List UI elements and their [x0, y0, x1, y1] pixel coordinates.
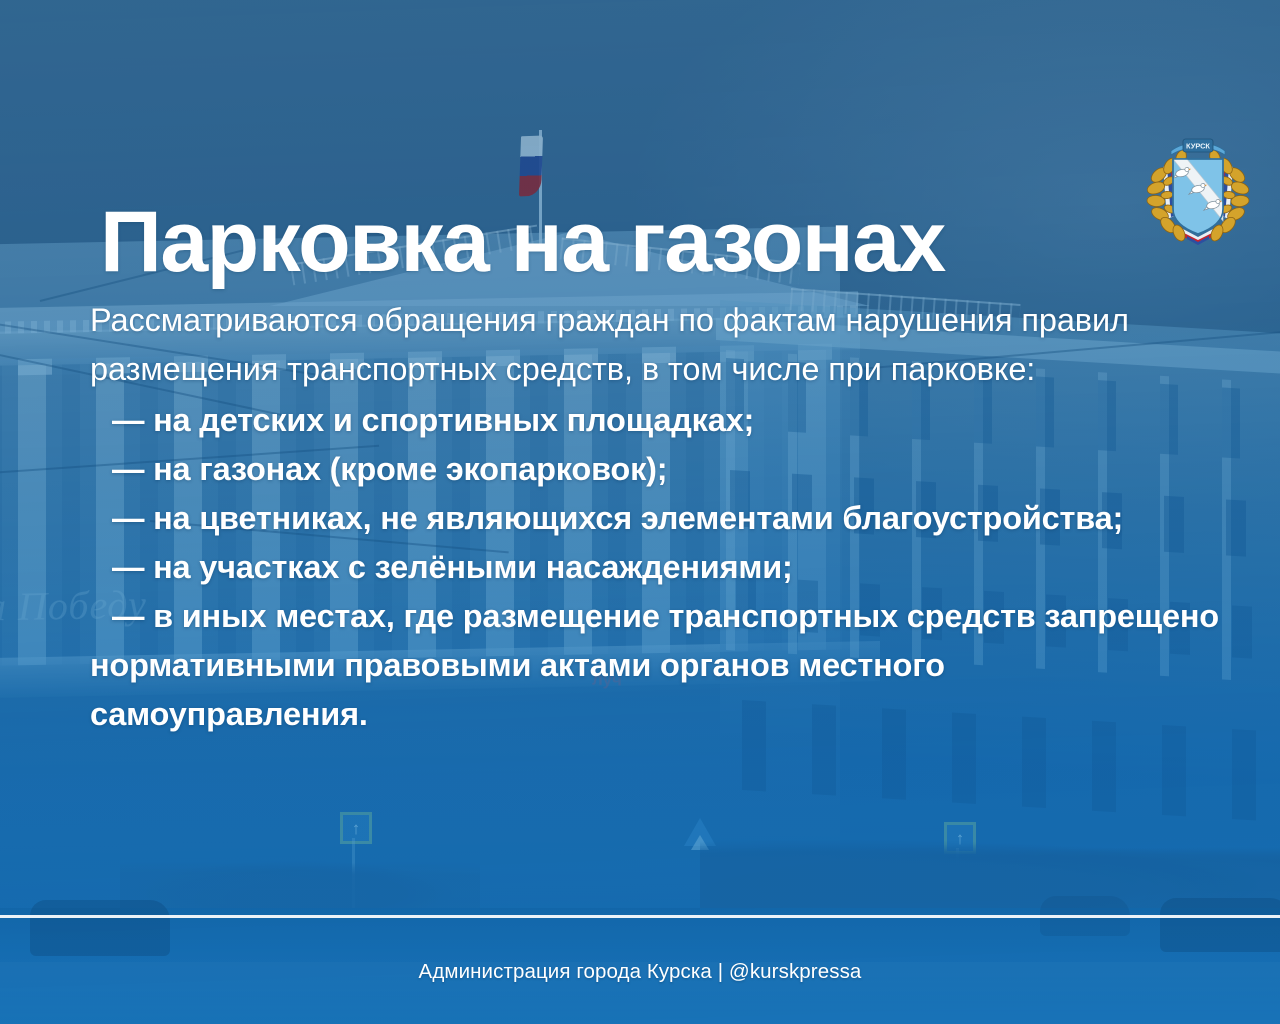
violation-list: — на детских и спортивных площадках; — н…: [90, 396, 1220, 739]
list-item: — на газонах (кроме экопарковок);: [90, 445, 1220, 494]
poster-content: Парковка на газонах: [0, 0, 1280, 1024]
emblem-banner-label: КУРСК: [1186, 141, 1210, 150]
page-title: Парковка на газонах: [100, 199, 945, 285]
footer-divider: [0, 915, 1280, 918]
list-item: — на участках с зелёными насаждениями;: [90, 543, 1220, 592]
kursk-coat-of-arms-icon: КУРСК: [1143, 133, 1253, 251]
list-item: — в иных местах, где размещение транспор…: [90, 592, 1220, 739]
lead-paragraph: Рассматриваются обращения граждан по фак…: [90, 296, 1220, 394]
poster-canvas: а Победу луч ↑ ↑ Парковка на газонах: [0, 0, 1280, 1024]
footer-credit: Администрация города Курска | @kurskpres…: [0, 960, 1280, 984]
body-copy: Рассматриваются обращения граждан по фак…: [90, 296, 1220, 739]
list-item: — на детских и спортивных площадках;: [90, 396, 1220, 445]
list-item: — на цветниках, не являющихся элементами…: [90, 494, 1220, 543]
